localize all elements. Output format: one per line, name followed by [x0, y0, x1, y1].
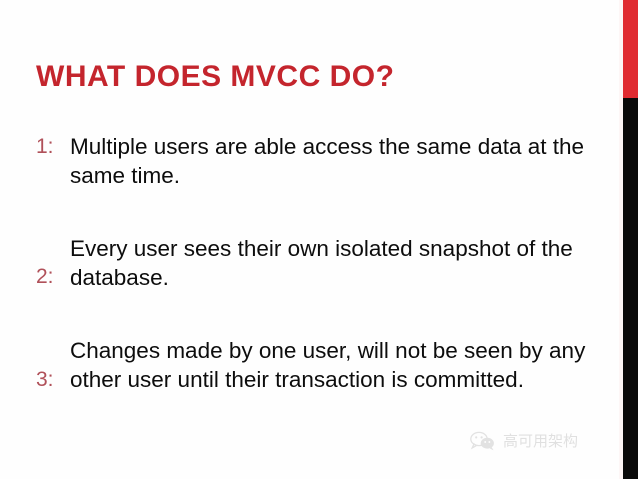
watermark-text: 高可用架构 [503, 430, 578, 451]
list-item-text: Every user sees their own isolated snaps… [70, 234, 596, 292]
list-item: 2: Every user sees their own isolated sn… [36, 234, 596, 292]
watermark: 高可用架构 [470, 430, 578, 451]
page-title: WHAT DOES MVCC DO? [36, 60, 394, 94]
list-item-marker: 1: [36, 132, 70, 157]
wechat-icon [470, 431, 496, 451]
list-item-marker: 2: [36, 234, 70, 287]
list-item-text: Multiple users are able access the same … [70, 132, 596, 190]
list-item-marker: 3: [36, 336, 70, 390]
list-item: 1: Multiple users are able access the sa… [36, 132, 596, 190]
edge-bar-red [623, 0, 638, 98]
slide-canvas: WHAT DOES MVCC DO? 1: Multiple users are… [0, 0, 638, 479]
points-list: 1: Multiple users are able access the sa… [36, 132, 596, 394]
list-item: 3: Changes made by one user, will not be… [36, 336, 596, 394]
list-item-text: Changes made by one user, will not be se… [70, 336, 596, 394]
edge-bar-black [623, 98, 638, 479]
